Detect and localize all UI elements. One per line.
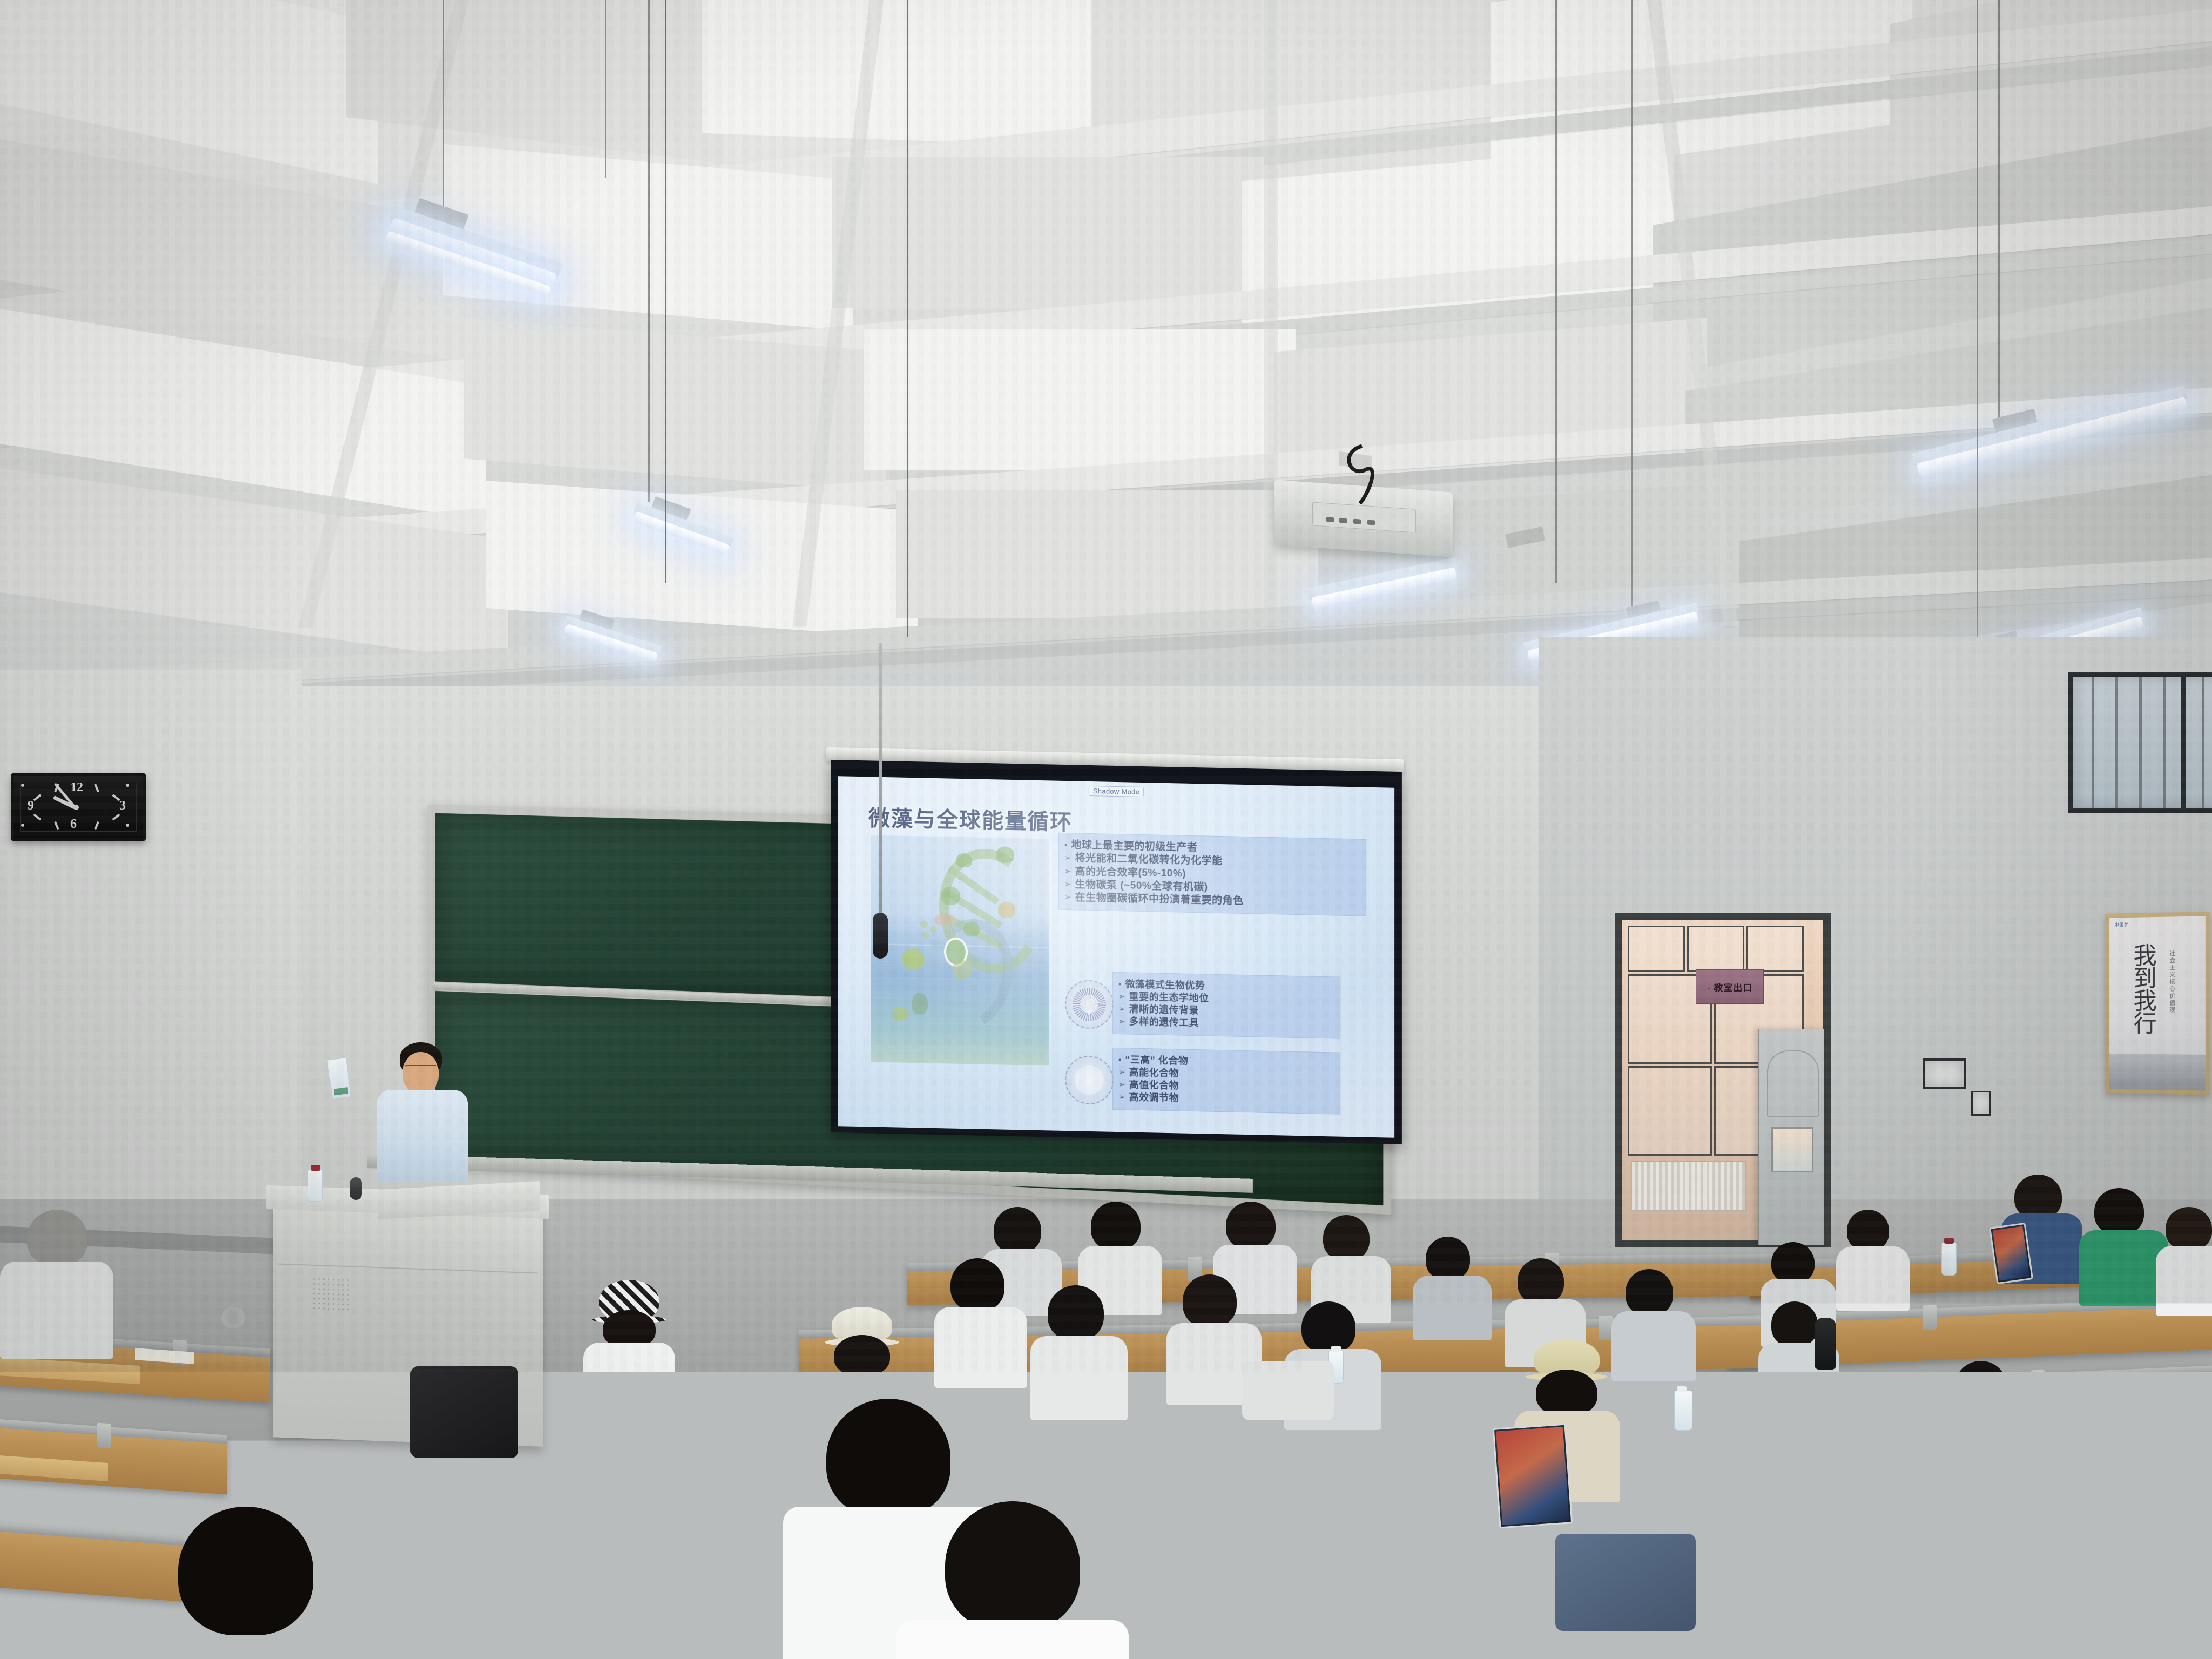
exit-arrow-icon: ↓: [1707, 982, 1711, 992]
bullet-marker-icon: ➢: [1118, 1092, 1125, 1102]
scroll-logo: 中国梦: [2115, 922, 2129, 928]
light-chain: [605, 0, 606, 178]
projection-screen: Shadow Mode 微藻与全球能量循环: [831, 760, 1402, 1144]
water-bottle: [1941, 1242, 1957, 1276]
scroll-subtitle: 社会主义核心价值观: [2168, 950, 2176, 1014]
slide-bullet: ➢多样的遗传工具: [1118, 1016, 1334, 1032]
light-chain: [443, 0, 444, 211]
metabolism-diagram-icon: [1065, 1055, 1114, 1105]
classroom-exit-sign: ↓ 教室出口: [1696, 969, 1764, 1004]
classroom-door[interactable]: [1758, 1029, 1824, 1245]
scroll-calligraphy: 我到我行: [2132, 943, 2154, 1034]
clock-numeral-6: 6: [70, 817, 77, 832]
projector-cable-icon: [1334, 443, 1399, 508]
light-chain: [907, 0, 908, 637]
water-bottle: [724, 1404, 739, 1438]
bullet-marker-icon: ➢: [1118, 991, 1125, 1001]
bullet-marker-icon: ➢: [1064, 892, 1071, 901]
water-bottle: [1674, 1391, 1692, 1431]
eyeglasses-icon: [405, 1065, 436, 1073]
presentation-slide: Shadow Mode 微藻与全球能量循环: [838, 776, 1394, 1138]
slide-block-primary-producer: ▪地球上最主要的初级生产者 ➢将光能和二氧化碳转化为化学能 ➢高的光合效率(5%…: [1058, 833, 1366, 916]
podium-microphone: [350, 1177, 362, 1200]
water-bottle: [308, 1169, 323, 1202]
light-chain: [665, 0, 666, 583]
bullet-marker-icon: ▪: [1118, 1054, 1121, 1064]
light-chain: [1977, 0, 1978, 664]
light-chain: [1631, 0, 1633, 637]
slide-block-three-high-compounds: ▪“三高” 化合物 ➢高能化合物 ➢高值化合物 ➢高效调节物: [1112, 1048, 1340, 1114]
light-chain: [648, 0, 650, 502]
slide-block-model-organism: ▪微藻模式生物优势 ➢重要的生态学地位 ➢清晰的遗传背景 ➢多样的遗传工具: [1112, 972, 1340, 1038]
backpack: [1555, 1534, 1696, 1631]
light-chain: [1555, 0, 1557, 583]
thermos-bottle: [1723, 1453, 1751, 1518]
slide-title: 微藻与全球能量循环: [868, 800, 1073, 836]
bullet-marker-icon: ➢: [1064, 866, 1071, 875]
student-tablet[interactable]: [1989, 1223, 2033, 1284]
wall-panel-box: [1971, 1091, 1991, 1116]
wall-clock: 12 3 6 9: [11, 773, 146, 841]
wall-speaker-icon: [221, 1307, 245, 1328]
calligraphy-wall-scroll: 中国梦 我到我行 社会主义核心价值观: [2105, 912, 2210, 1095]
clock-numeral-9: 9: [28, 799, 34, 813]
bullet-marker-icon: ➢: [1118, 1067, 1125, 1076]
bag: [1242, 1361, 1334, 1420]
bullet-marker-icon: ➢: [1118, 1079, 1125, 1089]
clock-numeral-12: 12: [70, 780, 83, 795]
ceiling: [0, 0, 2212, 713]
bullet-marker-icon: ➢: [1118, 1016, 1125, 1026]
light-chain: [1998, 0, 2000, 448]
clock-numeral-3: 3: [119, 799, 126, 813]
dna-algae-illustration: [871, 835, 1049, 1065]
bullet-marker-icon: ➢: [1064, 879, 1071, 888]
wall-panel-box: [1923, 1058, 1966, 1089]
bullet-marker-icon: ▪: [1118, 979, 1121, 988]
slide-bullet: ➢高效调节物: [1118, 1092, 1334, 1108]
microphone-head: [873, 913, 888, 959]
bullet-marker-icon: ▪: [1064, 839, 1067, 849]
left-wall: [0, 670, 302, 1264]
bullet-marker-icon: ➢: [1118, 1003, 1125, 1013]
shadow-mode-watermark: Shadow Mode: [1089, 786, 1144, 797]
bullet-marker-icon: ➢: [1064, 852, 1071, 862]
thermos-bottle: [1815, 1318, 1836, 1370]
microphone-stand: [879, 643, 882, 945]
backpack: [410, 1366, 518, 1458]
exit-sign-label: 教室出口: [1714, 980, 1752, 994]
frog-water-bottle: [1431, 1453, 1456, 1476]
student-tablet[interactable]: [1188, 1615, 1375, 1659]
radiator: [1631, 1161, 1746, 1211]
student-tablet[interactable]: [1493, 1423, 1573, 1528]
window-upper-right: [2068, 672, 2212, 813]
lecture-hall-photo: 12 3 6 9 Shadow Mode 微藻与全球能量循环: [0, 0, 2212, 1659]
chloroplast-icon: [1065, 980, 1114, 1029]
